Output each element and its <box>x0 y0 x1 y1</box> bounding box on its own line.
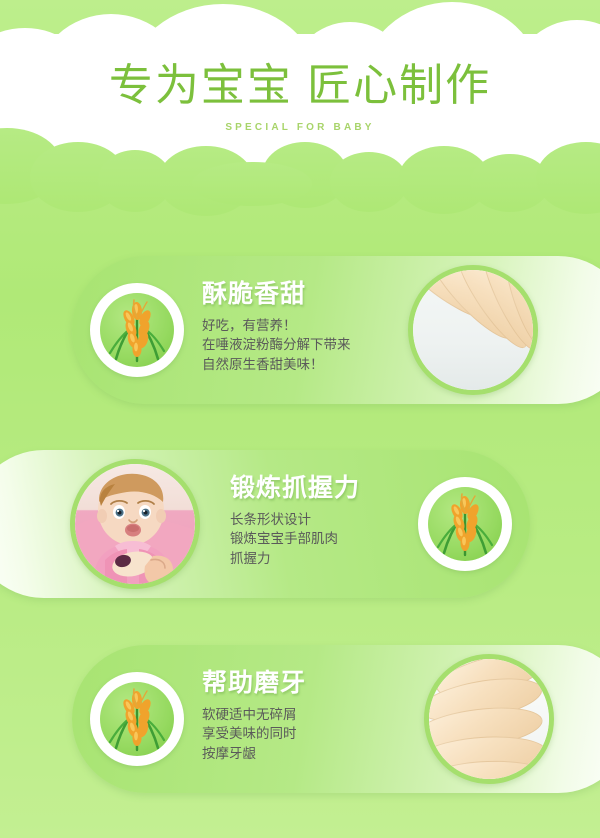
card-2-text: 锻炼抓握力 长条形状设计 锻炼宝宝手部肌肉 抓握力 <box>230 475 360 568</box>
card-3-title: 帮助磨牙 <box>202 670 306 698</box>
cloud-dip-6 <box>330 152 408 212</box>
header-cloud-banner: 专为宝宝 匠心制作 SPECIAL FOR BABY <box>0 0 600 205</box>
rice-cracker-ovals-photo <box>429 659 549 779</box>
card-3-line-1: 软硬适中无碎屑 <box>202 705 306 725</box>
card-1-wheat-badge <box>90 283 184 377</box>
card-3-wheat-badge <box>90 672 184 766</box>
card-3-line-2: 享受美味的同时 <box>202 724 306 744</box>
baby-eating-cracker-photo <box>75 464 195 584</box>
wheat-icon <box>428 487 502 561</box>
page-title: 专为宝宝 匠心制作 <box>0 62 600 110</box>
card-3-text: 帮助磨牙 软硬适中无碎屑 享受美味的同时 按摩牙龈 <box>202 670 306 763</box>
feature-card-3[interactable]: 帮助磨牙 软硬适中无碎屑 享受美味的同时 按摩牙龈 <box>72 645 600 793</box>
card-1-title: 酥脆香甜 <box>202 281 351 309</box>
card-3-line-3: 按摩牙龈 <box>202 744 306 764</box>
card-2-baby-photo[interactable] <box>70 459 200 589</box>
cloud-dip-10 <box>192 162 312 206</box>
wheat-icon <box>100 682 174 756</box>
feature-card-1[interactable]: 酥脆香甜 好吃，有营养！ 在唾液淀粉酶分解下带来 自然原生香甜美味！ <box>72 256 600 404</box>
card-2-wheat-badge <box>418 477 512 571</box>
wheat-icon <box>100 293 174 367</box>
page-subtitle: SPECIAL FOR BABY <box>0 122 600 133</box>
feature-card-2[interactable]: 锻炼抓握力 长条形状设计 锻炼宝宝手部肌肉 抓握力 <box>0 450 530 598</box>
card-2-line-1: 长条形状设计 <box>230 510 360 530</box>
card-1-line-2: 在唾液淀粉酶分解下带来 <box>202 335 351 355</box>
card-1-text: 酥脆香甜 好吃，有营养！ 在唾液淀粉酶分解下带来 自然原生香甜美味！ <box>202 281 351 374</box>
header-text-group: 专为宝宝 匠心制作 SPECIAL FOR BABY <box>0 62 600 133</box>
card-2-title: 锻炼抓握力 <box>230 475 360 503</box>
card-3-product-photo[interactable] <box>424 654 554 784</box>
card-1-line-1: 好吃，有营养！ <box>202 316 351 336</box>
card-2-line-2: 锻炼宝宝手部肌肉 <box>230 529 360 549</box>
card-2-line-3: 抓握力 <box>230 549 360 569</box>
promo-page: 专为宝宝 匠心制作 SPECIAL FOR BABY <box>0 0 600 838</box>
card-1-line-3: 自然原生香甜美味！ <box>202 355 351 375</box>
rice-cracker-sticks-photo <box>413 270 533 390</box>
card-1-product-photo[interactable] <box>408 265 538 395</box>
